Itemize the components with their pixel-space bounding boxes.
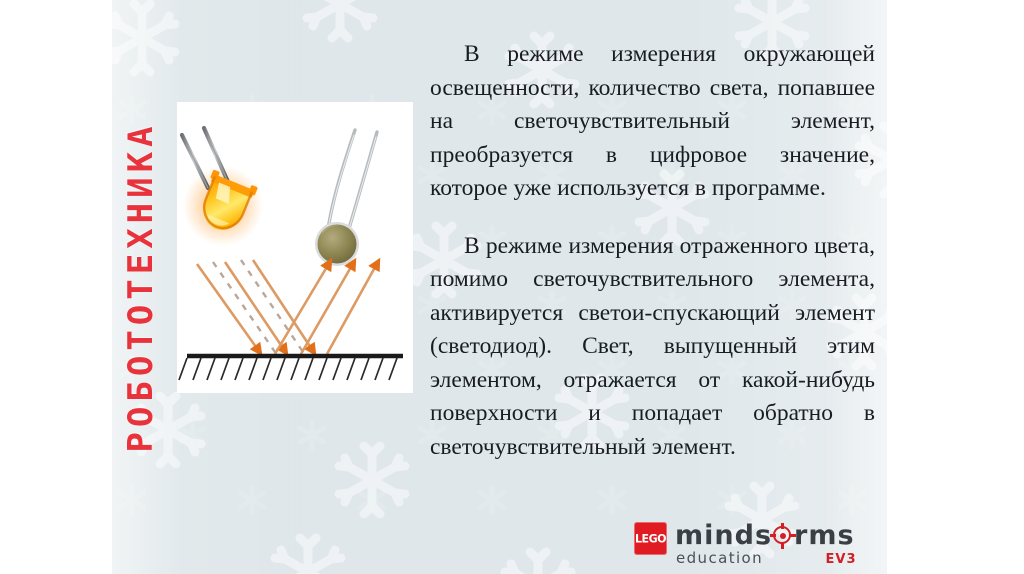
body-text-column: В режиме измерения окружающей освещеннос… <box>430 38 875 464</box>
vertical-title-band: РОБОТОТЕХНИКА <box>112 0 170 574</box>
mindstorms-part-b: rms <box>794 522 855 549</box>
presentation-slide: РОБОТОТЕХНИКА <box>112 0 887 574</box>
logo-wordmark-group: minds rms education EV3 <box>675 522 855 567</box>
light-sensor-diagram <box>177 102 413 393</box>
lego-wordmark: LEGO <box>635 531 666 545</box>
mindstorms-wordmark: minds rms <box>675 522 855 549</box>
paragraph-2: В режиме измерения отраженного цвета, по… <box>430 230 875 465</box>
figure-panel <box>177 102 413 393</box>
paragraph-1: В режиме измерения окружающей освещеннос… <box>430 38 875 206</box>
lego-mindstorms-education-logo: LEGO minds rms education EV3 <box>634 522 855 567</box>
logo-edition-badge: EV3 <box>826 552 857 567</box>
page-title: РОБОТОТЕХНИКА <box>121 121 161 452</box>
mindstorms-part-a: minds <box>675 522 772 549</box>
lego-brick-icon: LEGO <box>634 522 667 555</box>
target-o-icon <box>773 526 793 546</box>
slide-page: РОБОТОТЕХНИКА <box>0 0 1024 574</box>
